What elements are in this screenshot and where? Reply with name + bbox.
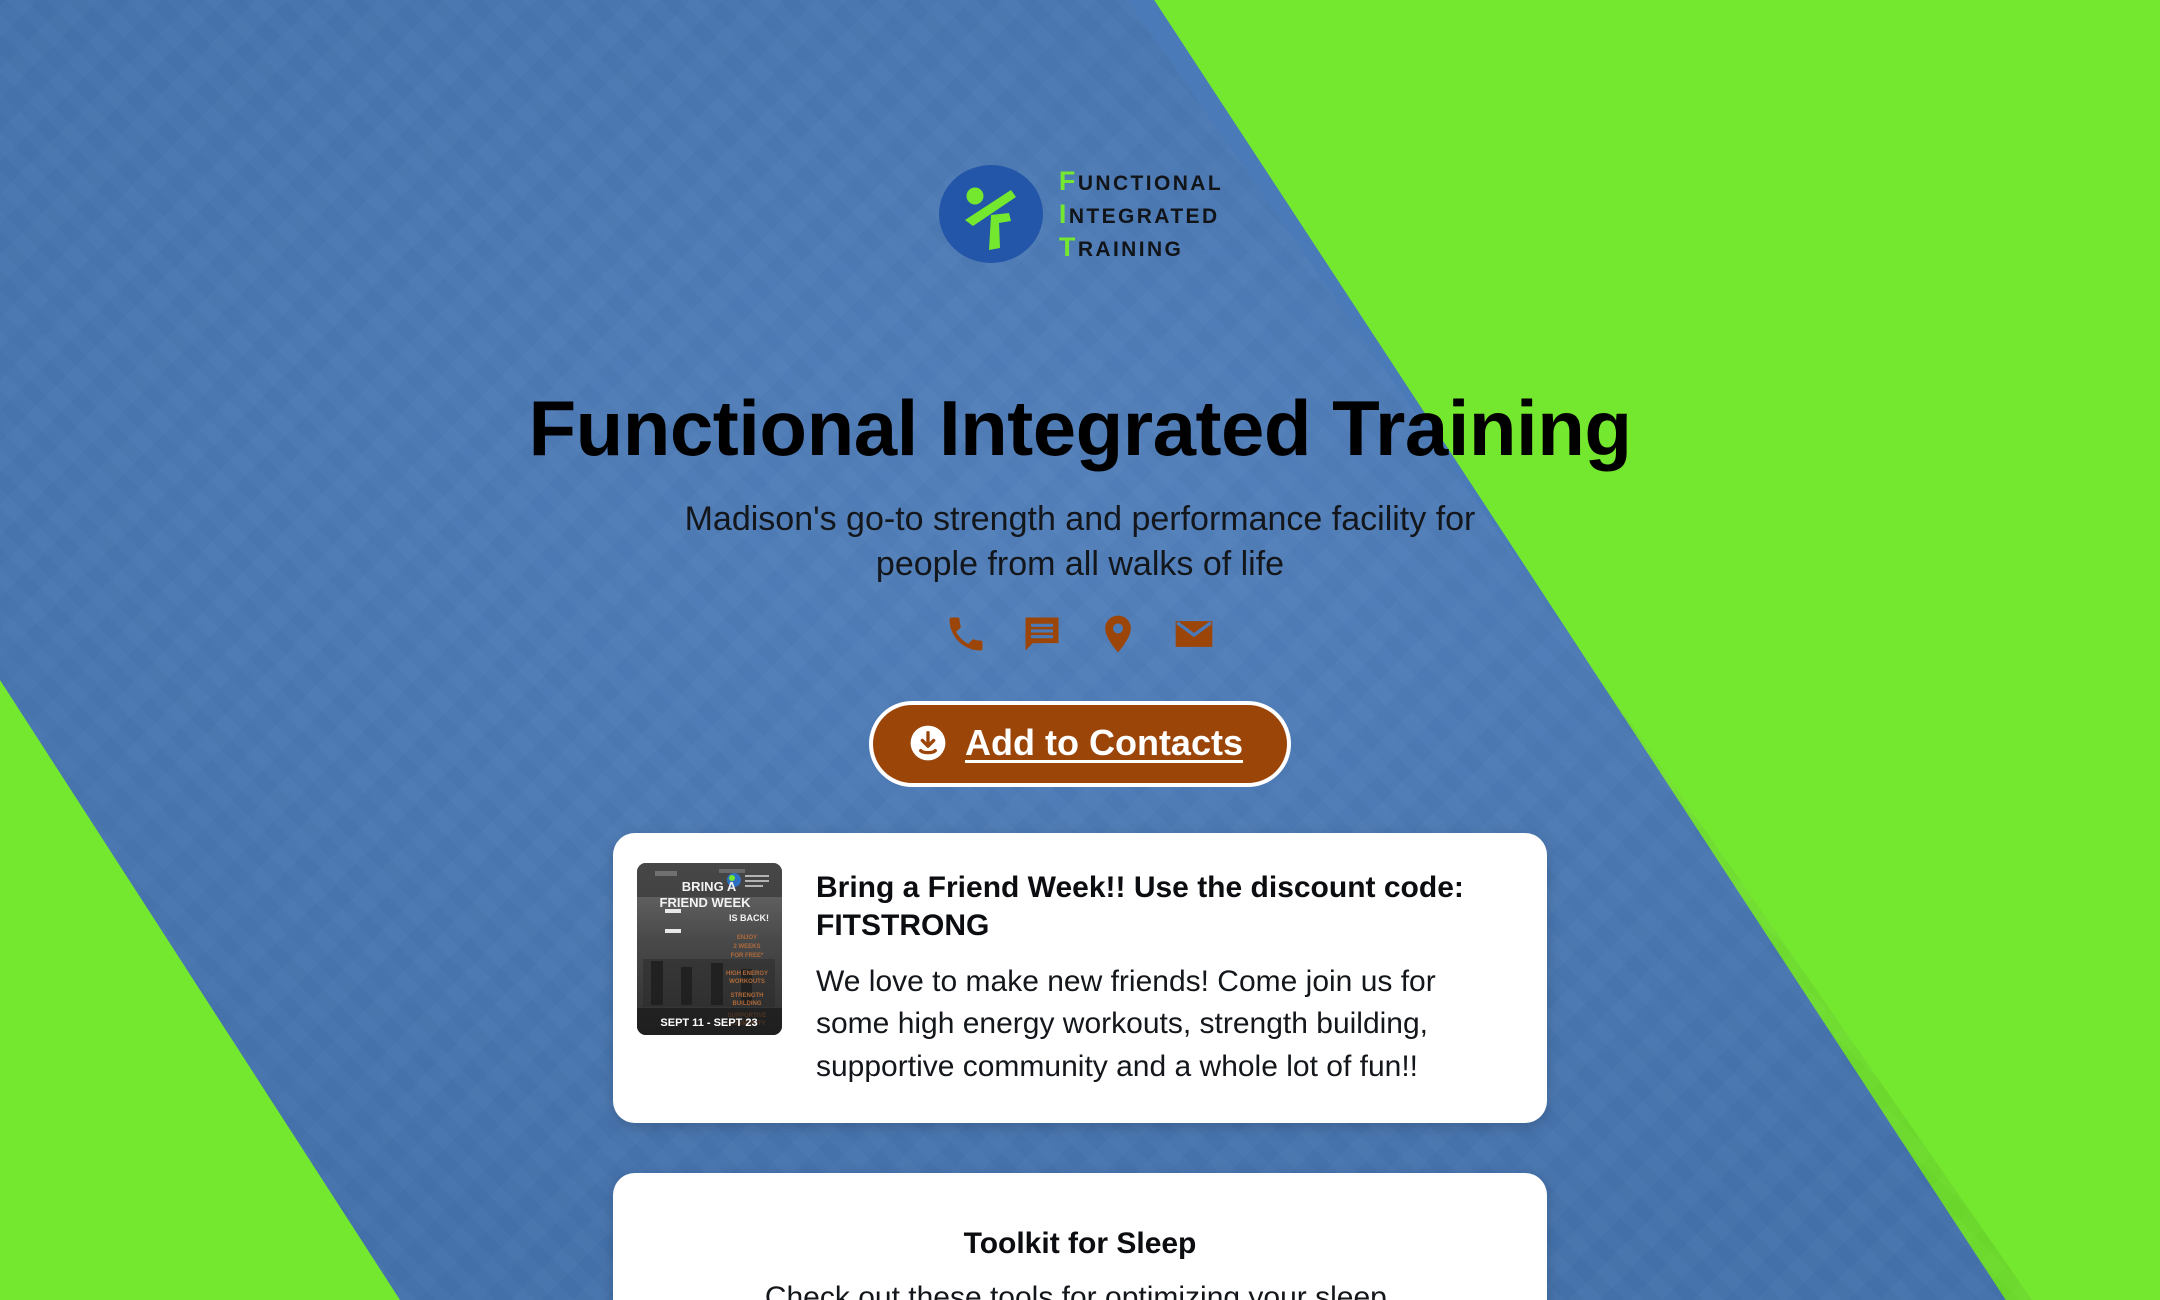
running-figure-icon bbox=[937, 160, 1045, 268]
logo-line-training: TRAINING bbox=[1059, 234, 1223, 261]
card-list: BRING A FRIEND WEEK IS BACK! ENJOY 2 WEE… bbox=[613, 833, 1547, 1300]
svg-text:WORKOUTS: WORKOUTS bbox=[729, 979, 765, 985]
svg-text:ENJOY: ENJOY bbox=[737, 935, 757, 941]
logo-rest-training: RAINING bbox=[1078, 238, 1183, 261]
logo-line-integrated: INTEGRATED bbox=[1059, 201, 1223, 228]
logo-cap-i: I bbox=[1059, 199, 1069, 229]
logo-cap-f: F bbox=[1059, 166, 1078, 196]
location-pin-icon[interactable] bbox=[1095, 611, 1141, 657]
logo-line-functional: FUNCTIONAL bbox=[1059, 168, 1223, 195]
svg-text:FRIEND WEEK: FRIEND WEEK bbox=[660, 895, 752, 910]
svg-text:2 WEEKS: 2 WEEKS bbox=[733, 944, 760, 950]
page-subtitle: Madison's go-to strength and performance… bbox=[640, 497, 1520, 587]
logo-rest-functional: UNCTIONAL bbox=[1078, 172, 1223, 195]
add-to-contacts-button[interactable]: Add to Contacts bbox=[869, 701, 1291, 787]
svg-text:IS BACK!: IS BACK! bbox=[729, 913, 769, 923]
message-icon[interactable] bbox=[1019, 611, 1065, 657]
svg-text:BUILDING: BUILDING bbox=[733, 1001, 762, 1007]
svg-text:BRING A: BRING A bbox=[682, 879, 737, 894]
svg-text:HIGH ENERGY: HIGH ENERGY bbox=[726, 971, 768, 977]
brand-logo: FUNCTIONAL INTEGRATED TRAINING bbox=[937, 160, 1223, 268]
logo-rest-integrated: NTEGRATED bbox=[1069, 205, 1220, 228]
card-toolkit-for-sleep[interactable]: Toolkit for Sleep Check out these tools … bbox=[613, 1173, 1547, 1300]
page-root: FUNCTIONAL INTEGRATED TRAINING Functiona… bbox=[0, 0, 2160, 1300]
contact-icon-row bbox=[943, 611, 1217, 657]
svg-text:FOR FREE*: FOR FREE* bbox=[731, 953, 764, 959]
card-media-row: BRING A FRIEND WEEK IS BACK! ENJOY 2 WEE… bbox=[637, 863, 1511, 1089]
bring-a-friend-week-flyer[interactable]: BRING A FRIEND WEEK IS BACK! ENJOY 2 WEE… bbox=[637, 863, 782, 1035]
page-content: FUNCTIONAL INTEGRATED TRAINING Functiona… bbox=[0, 0, 2160, 1300]
logo-cap-t: T bbox=[1059, 232, 1078, 262]
card-description: Check out these tools for optimizing you… bbox=[649, 1277, 1511, 1300]
card-bring-a-friend-week[interactable]: BRING A FRIEND WEEK IS BACK! ENJOY 2 WEE… bbox=[613, 833, 1547, 1123]
phone-icon[interactable] bbox=[943, 611, 989, 657]
email-icon[interactable] bbox=[1171, 611, 1217, 657]
card-title: Toolkit for Sleep bbox=[649, 1225, 1511, 1263]
download-circle-icon bbox=[909, 724, 947, 762]
card-body: Bring a Friend Week!! Use the discount c… bbox=[816, 863, 1511, 1089]
page-title: Functional Integrated Training bbox=[480, 382, 1680, 475]
brand-logo-text: FUNCTIONAL INTEGRATED TRAINING bbox=[1059, 168, 1223, 261]
card-description: We love to make new friends! Come join u… bbox=[816, 961, 1511, 1089]
card-title: Bring a Friend Week!! Use the discount c… bbox=[816, 869, 1511, 945]
add-to-contacts-label: Add to Contacts bbox=[965, 722, 1243, 764]
svg-text:SEPT 11 - SEPT 23: SEPT 11 - SEPT 23 bbox=[660, 1017, 757, 1029]
svg-text:STRENGTH: STRENGTH bbox=[731, 993, 764, 999]
